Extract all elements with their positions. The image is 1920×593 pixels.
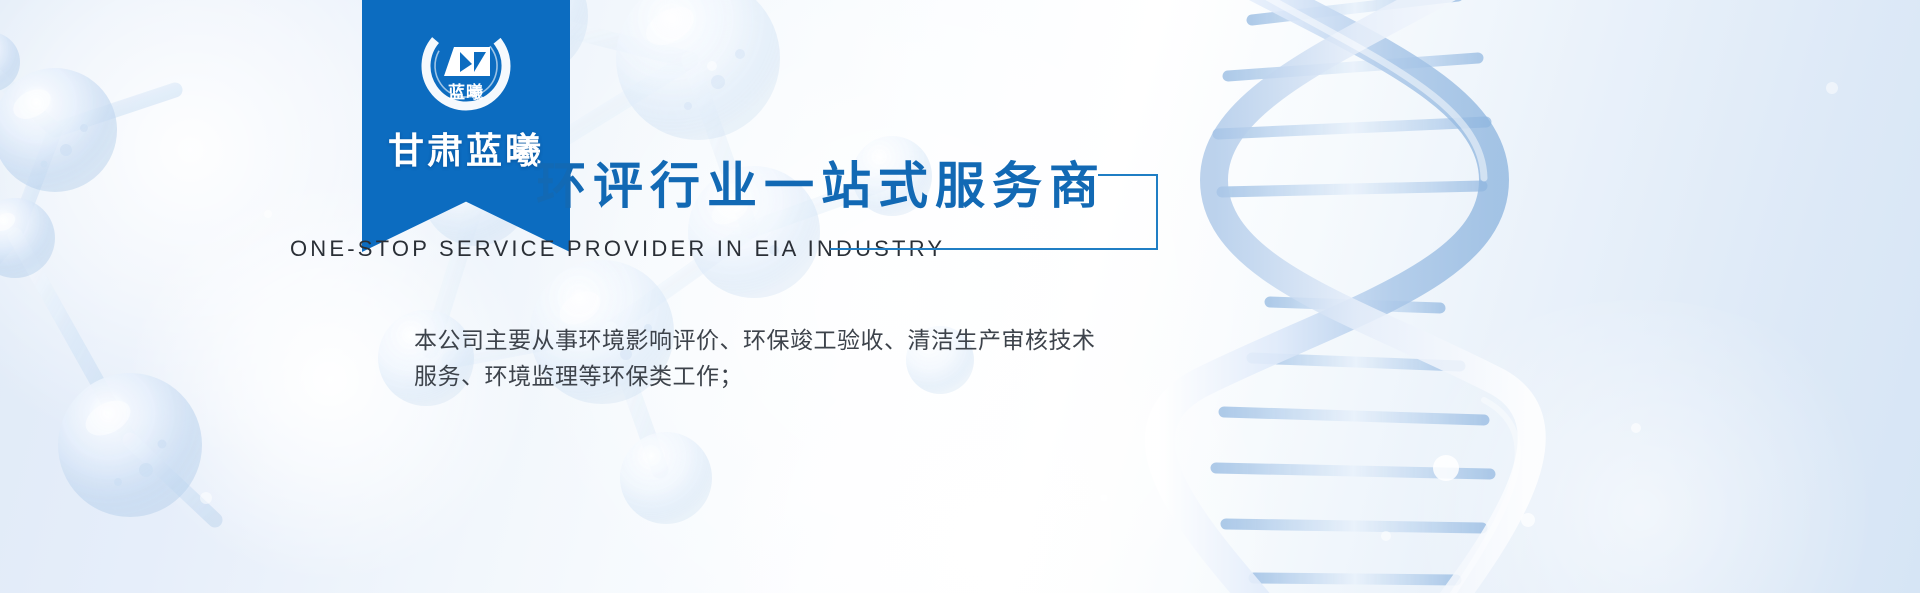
hero-banner: 蓝曦 甘肃蓝曦 环评行业一站式服务商 ONE-STOP SERVICE PROV… [0,0,1920,593]
dna-helix-icon [1110,0,1590,593]
molecule-left-icon [0,0,320,593]
lanxi-logo-icon: 蓝曦 [404,14,528,138]
page-title: 环评行业一站式服务商 [536,146,1106,218]
body-line-2: 服务、环境监理等环保类工作； [414,358,1204,394]
logo-wordmark: 蓝曦 [448,82,484,102]
sparkle-overlay-icon [0,0,1920,593]
body-description: 本公司主要从事环境影响评价、环保竣工验收、清洁生产审核技术 服务、环境监理等环保… [414,322,1204,394]
accent-rule [830,248,1158,250]
glow-highlight [520,0,1280,593]
body-line-1: 本公司主要从事环境影响评价、环保竣工验收、清洁生产审核技术 [414,322,1204,358]
accent-bracket-top [1098,174,1158,176]
accent-bracket-side [1156,174,1158,250]
glow-highlight [1380,300,1900,593]
